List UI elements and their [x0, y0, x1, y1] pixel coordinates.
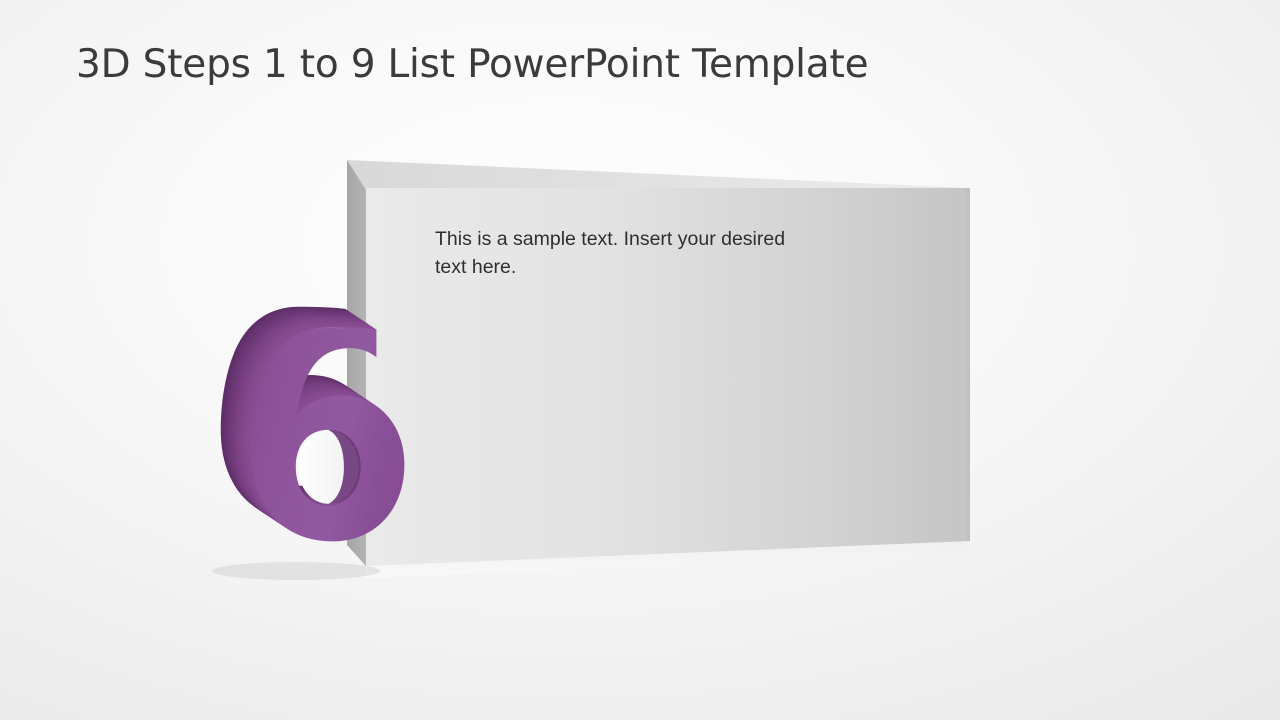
box-body-text: This is a sample text. Insert your desir… — [435, 225, 805, 281]
step-diagram: This is a sample text. Insert your desir… — [0, 0, 1280, 720]
step-number-3d — [0, 0, 1280, 720]
numeral-ground-shadow — [212, 562, 380, 580]
slide-canvas: 3D Steps 1 to 9 List PowerPoint Template — [0, 0, 1280, 720]
